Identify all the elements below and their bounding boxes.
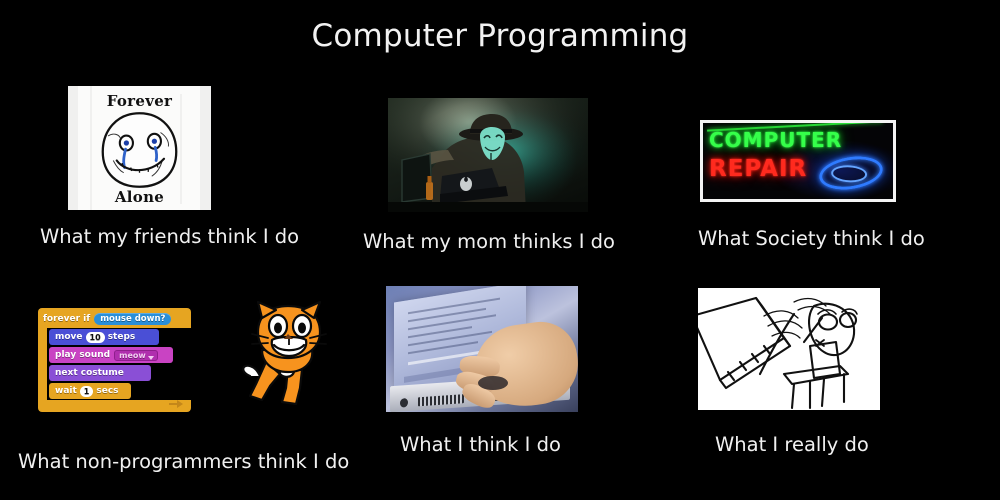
scratch-play-sound-label: play sound [55, 350, 110, 360]
meme-canvas: Computer Programming Forever [0, 0, 1000, 500]
hacker-figure-icon [388, 98, 588, 212]
scratch-forever-if-header: forever if mouse down? [43, 312, 171, 325]
scratch-block-next-costume: next costume [49, 365, 151, 381]
table-flip-figure-icon [698, 288, 880, 410]
scratch-block-wait-secs: wait 1 secs [49, 383, 131, 399]
caption-non-programmers: What non-programmers think I do [18, 450, 349, 473]
neon-text-repair: REPAIR [709, 156, 807, 182]
forever-alone-bottom-text: Alone [68, 188, 211, 206]
neon-orbit-icon [817, 152, 885, 194]
forever-alone-tshirt-image: Forever Alone [68, 86, 211, 210]
computer-repair-neon-sign-image: COMPUTER REPAIR [700, 120, 896, 202]
scratch-move-label-before: move [55, 332, 83, 342]
caption-i-really-do: What I really do [715, 433, 869, 456]
meme-title: Computer Programming [0, 18, 1000, 54]
forever-alone-face-icon [87, 106, 192, 194]
scratch-wait-label-before: wait [55, 386, 77, 396]
scratch-next-costume-label: next costume [55, 368, 124, 378]
laptop-trackpad [478, 376, 508, 390]
scratch-move-number-input[interactable]: 10 [86, 332, 105, 343]
scratch-move-label-after: steps [108, 332, 136, 342]
scratch-block-play-sound: play sound meow [49, 347, 173, 363]
hacker-in-mask-image [388, 98, 588, 212]
scratch-wait-number-input[interactable]: 1 [80, 386, 94, 397]
neon-sign-inner: COMPUTER REPAIR [703, 123, 893, 199]
scratch-sound-dropdown[interactable]: meow [114, 350, 158, 361]
scratch-loop-arrow-icon [177, 400, 183, 408]
scratch-boolean-mouse-down: mouse down? [94, 313, 171, 325]
scratch-cat-icon [236, 300, 340, 410]
caption-mom: What my mom thinks I do [363, 230, 615, 253]
caption-society: What Society think I do [698, 227, 925, 250]
hand-on-laptop-image [386, 286, 578, 412]
caption-i-think: What I think I do [400, 433, 561, 456]
scratch-block-move-steps: move 10 steps [49, 329, 159, 345]
caption-friends: What my friends think I do [40, 225, 299, 248]
neon-text-computer: COMPUTER [709, 128, 842, 152]
table-flip-rage-comic-image [698, 288, 880, 410]
scratch-block-stack: forever if mouse down? move 10 steps pla… [38, 308, 191, 412]
scratch-forever-if-label: forever if [43, 314, 90, 324]
scratch-wait-label-after: secs [96, 386, 118, 396]
